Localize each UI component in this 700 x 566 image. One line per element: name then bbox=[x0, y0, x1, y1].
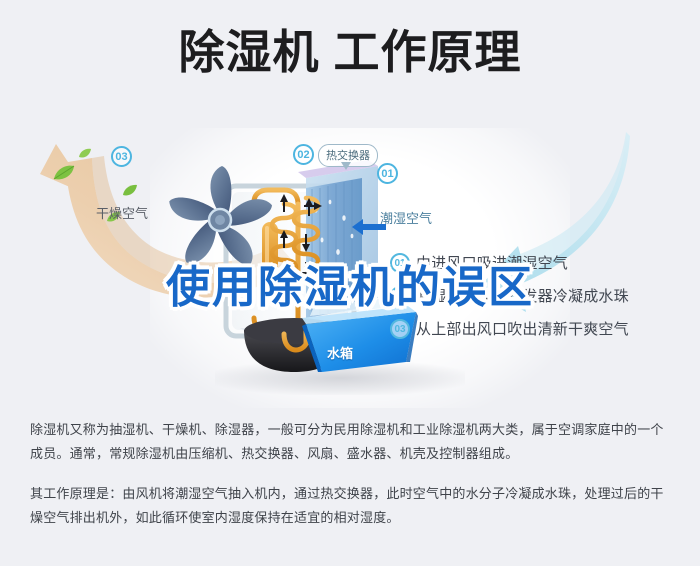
paragraph-1: 除湿机又称为抽湿机、干燥机、除湿器，一般可分为民用除湿机和工业除湿机两大类，属于… bbox=[30, 418, 676, 466]
step-number-03: 03 bbox=[390, 319, 410, 339]
callout-label-dry-air: 干燥空气 bbox=[96, 203, 148, 222]
water-tank-label: 水箱 bbox=[327, 343, 353, 362]
callout-badge-03: 03 bbox=[111, 146, 132, 167]
page-title: 除湿机工作原理 bbox=[0, 22, 700, 82]
step-text-02: 潮湿空气经过蒸发器冷凝成水珠 bbox=[416, 285, 629, 306]
paragraph-2: 其工作原理是：由风机将潮湿空气抽入机内，通过热交换器，此时空气中的水分子冷凝成水… bbox=[30, 482, 676, 530]
leaf-icon bbox=[52, 164, 76, 187]
callout-label-humid-air: 潮湿空气 bbox=[380, 208, 432, 227]
page-title-part1: 除湿机 bbox=[179, 26, 320, 78]
callout-badge-01: 01 bbox=[377, 163, 398, 184]
step-item-03: 03从上部出风口吹出清新干爽空气 bbox=[390, 318, 690, 351]
step-number-02: 02 bbox=[390, 286, 410, 306]
callout-badge-02: 02 bbox=[293, 144, 314, 165]
page-title-part2: 工作原理 bbox=[334, 26, 522, 78]
leaf-icon bbox=[78, 146, 92, 164]
step-number-01: 01 bbox=[390, 253, 410, 273]
step-text-01: 由进风口吸进潮湿空气 bbox=[416, 252, 568, 273]
step-list: 01由进风口吸进潮湿空气 02潮湿空气经过蒸发器冷凝成水珠 03从上部出风口吹出… bbox=[390, 252, 690, 351]
step-item-01: 01由进风口吸进潮湿空气 bbox=[390, 252, 690, 285]
page-title-text: 除湿机工作原理 bbox=[179, 22, 522, 82]
body-copy: 除湿机又称为抽湿机、干燥机、除湿器，一般可分为民用除湿机和工业除湿机两大类，属于… bbox=[30, 418, 676, 530]
callout-pointer-heat-exchanger bbox=[341, 162, 351, 170]
leaf-icon bbox=[122, 184, 138, 202]
fan-icon bbox=[160, 160, 280, 285]
step-text-03: 从上部出风口吹出清新干爽空气 bbox=[416, 318, 629, 339]
step-item-02: 02潮湿空气经过蒸发器冷凝成水珠 bbox=[390, 285, 690, 318]
